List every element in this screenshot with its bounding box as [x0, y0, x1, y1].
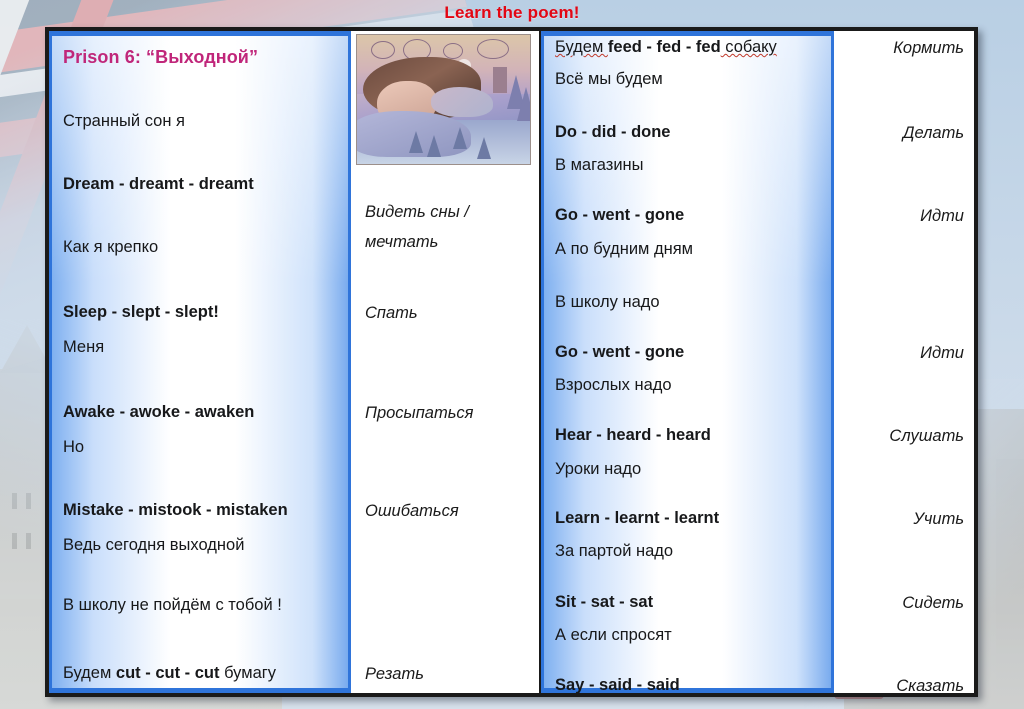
poem-line-prefix: Будем	[555, 38, 608, 56]
verb-inline: feed - fed - fed	[608, 38, 721, 56]
translation-line: Идти	[834, 344, 974, 363]
poem-line-suffix: бумагу	[219, 664, 276, 682]
verb-line: Go - went - gone	[555, 344, 834, 361]
poem-line: Но	[63, 439, 351, 456]
translation-line: Ошибаться	[351, 502, 541, 521]
verb-line: Awake - awoke - awaken	[63, 404, 351, 421]
dream-image	[356, 34, 531, 165]
verb-line: Mistake - mistook - mistaken	[63, 502, 351, 519]
poem-table: Prison 6: “Выходной” Странный сон я Drea…	[45, 27, 978, 697]
poem-line: Как я крепко	[63, 239, 351, 256]
column-right-poem: Будем feed - fed - fed собаку Всё мы буд…	[541, 31, 834, 693]
poem-line: В магазины	[555, 157, 834, 174]
verb-line: Hear - heard - heard	[555, 427, 834, 444]
poem-line: Ведь сегодня выходной	[63, 537, 351, 554]
verb-line: Say - said - said	[555, 677, 834, 693]
poem-line-mixed: Будем feed - fed - fed собаку	[555, 39, 834, 56]
translation-line: Просыпаться	[351, 404, 541, 423]
page-title: Learn the poem!	[0, 3, 1024, 23]
poem-line: За партой надо	[555, 543, 834, 560]
poem-line-prefix: Будем	[63, 664, 116, 682]
poem-line-mixed: Будем cut - cut - cut бумагу	[63, 665, 351, 682]
column-right-translations: Кормить Делать Идти Идти Слушать Учить С…	[834, 31, 974, 693]
translation-line: Делать	[834, 124, 974, 143]
poem-line: В школу не пойдём с тобой !	[63, 597, 351, 614]
poem-line: Всё мы будем	[555, 71, 834, 88]
translation-line: Резать	[351, 665, 541, 684]
translation-line: Спать	[351, 304, 541, 323]
column-left-poem: Prison 6: “Выходной” Странный сон я Drea…	[49, 31, 351, 693]
poem-line: В школу надо	[555, 294, 834, 311]
verb-line: Sleep - slept - slept!	[63, 304, 351, 321]
column-left-translations: Видеть сны / мечтать Спать Просыпаться О…	[351, 31, 541, 693]
poem-line: Меня	[63, 339, 351, 356]
translation-line: Кормить	[834, 39, 974, 58]
translation-line: Слушать	[834, 427, 974, 446]
verb-line: Do - did - done	[555, 124, 834, 141]
poem-line: Странный сон я	[63, 113, 351, 130]
poem-line: А если спросят	[555, 627, 834, 644]
poem-heading: Prison 6: “Выходной”	[63, 47, 351, 68]
verb-line: Go - went - gone	[555, 207, 834, 224]
translation-line: Сидеть	[834, 594, 974, 613]
verb-line: Learn - learnt - learnt	[555, 510, 834, 527]
translation-line: Сказать	[834, 677, 974, 693]
translation-line: Видеть сны /	[351, 203, 541, 222]
translation-line: Учить	[834, 510, 974, 529]
verb-line: Dream - dreamt - dreamt	[63, 176, 351, 193]
poem-line-suffix: собаку	[721, 38, 777, 56]
translation-line: мечтать	[351, 233, 541, 252]
poem-line: Уроки надо	[555, 461, 834, 478]
verb-line: Sit - sat - sat	[555, 594, 834, 611]
verb-inline: cut - cut - cut	[116, 664, 220, 682]
poem-line: А по будним дням	[555, 241, 834, 258]
poem-line: Взрослых надо	[555, 377, 834, 394]
translation-line: Идти	[834, 207, 974, 226]
